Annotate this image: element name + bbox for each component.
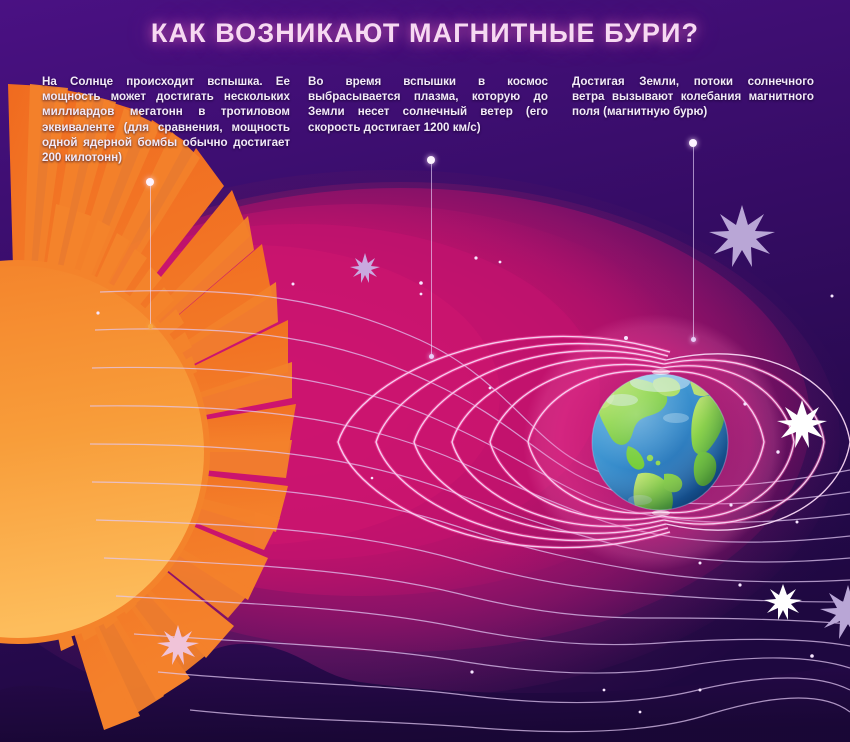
callout-text-magnetic-storm: Достигая Земли, потоки солнечного ветра … <box>572 74 814 120</box>
leader-head-dot <box>689 139 697 147</box>
leader-head-dot <box>427 156 435 164</box>
leader-stem <box>431 164 432 355</box>
leader-stem <box>693 147 694 338</box>
callout-text-solar-flare: На Солнце происходит вспышка. Ее мощност… <box>42 74 290 165</box>
leader-tail-dot <box>148 324 153 329</box>
infographic-canvas: КАК ВОЗНИКАЮТ МАГНИТНЫЕ БУРИ? На Солнце … <box>0 0 850 742</box>
leader-stem <box>150 186 151 325</box>
page-title: КАК ВОЗНИКАЮТ МАГНИТНЫЕ БУРИ? <box>0 18 850 49</box>
leader-head-dot <box>146 178 154 186</box>
leader-tail-dot <box>691 337 696 342</box>
callout-text-plasma-ejection: Во время вспышки в космос выбрасывается … <box>308 74 548 135</box>
leader-tail-dot <box>429 354 434 359</box>
